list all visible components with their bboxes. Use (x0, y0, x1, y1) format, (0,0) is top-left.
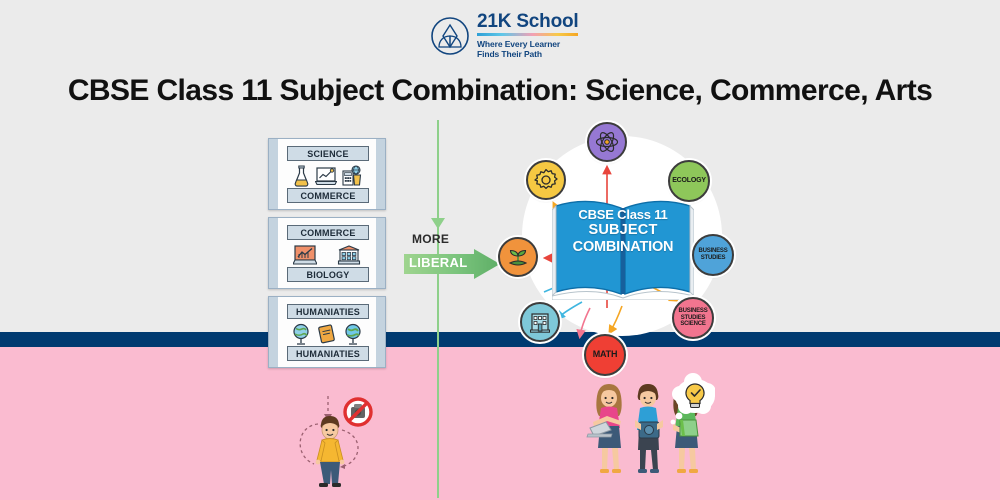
card-top-label: SCIENCE (287, 146, 369, 161)
brand-tagline-line1: Where Every Learner (477, 39, 578, 50)
page-title: CBSE Class 11 Subject Combination: Scien… (0, 74, 1000, 108)
node-business-studies-label: BUSINESS STUDIES (694, 248, 732, 261)
card-bottom-label: HUMANIATIES (287, 346, 369, 361)
calculator-globe-icon (342, 165, 362, 187)
node-ecology[interactable]: ECOLOGY (668, 160, 710, 202)
node-plant[interactable] (498, 237, 538, 277)
node-ecology-label: ECOLOGY (670, 177, 708, 185)
subject-card-stack: SCIENCE COMMERCE (268, 138, 386, 368)
atom-icon (595, 130, 619, 154)
card-top-label: HUMANIATIES (287, 304, 369, 319)
lotus-circle-icon (430, 16, 470, 56)
book-center-text: CBSE Class 11 SUBJECT COMBINATION (556, 207, 690, 256)
card-bottom-label: COMMERCE (287, 188, 369, 203)
boy-with-tablet-icon (635, 384, 663, 473)
node-atom[interactable] (587, 122, 627, 162)
subject-card[interactable]: HUMANIATIES HUMANIATIES (268, 296, 386, 368)
laptop-chart-icon (315, 166, 337, 186)
subject-card[interactable]: SCIENCE COMMERCE (268, 138, 386, 210)
book-icon (318, 324, 336, 344)
sprout-icon (506, 245, 530, 269)
globe-icon (291, 323, 311, 345)
globe-icon (343, 323, 363, 345)
more-label: MORE (412, 232, 474, 246)
book-line-3: COMBINATION (556, 239, 690, 256)
card-top-label: COMMERCE (287, 225, 369, 240)
brand-name: 21K School (477, 12, 578, 31)
node-math-label: MATH (591, 350, 620, 360)
card-bottom-label: BIOLOGY (287, 267, 369, 282)
brand-logo-text: 21K School Where Every Learner Finds The… (477, 12, 578, 60)
node-business-science[interactable]: BUSINESS STUDIES SCIENCE (672, 297, 714, 339)
node-business-science-label: BUSINESS STUDIES SCIENCE (674, 308, 712, 328)
node-gear[interactable] (526, 160, 566, 200)
book-line-2: SUBJECT (556, 222, 690, 239)
subject-card[interactable]: COMMERCE BIOLOGY (268, 217, 386, 289)
card-icon-row (283, 243, 371, 267)
card-icon-row (283, 322, 371, 346)
boy-with-prohibition-sign-icon (288, 390, 378, 492)
more-liberal-indicator: MORE LIBERAL (404, 232, 500, 280)
gear-icon (534, 168, 558, 192)
node-business-studies[interactable]: BUSINESS STUDIES (692, 234, 734, 276)
flask-icon (293, 165, 310, 187)
brand-logo[interactable]: 21K School Where Every Learner Finds The… (430, 10, 600, 62)
node-building[interactable] (520, 302, 560, 342)
book-line-1: CBSE Class 11 (556, 207, 690, 222)
bank-building-icon (337, 245, 361, 265)
chart-board-icon (293, 245, 317, 265)
students-group-icon (585, 370, 715, 495)
brand-rule (477, 33, 578, 36)
down-arrow-icon (430, 218, 446, 230)
liberal-axis-line (437, 120, 439, 498)
subject-combination-diagram: CBSE Class 11 SUBJECT COMBINATION ECOLOG… (490, 112, 750, 382)
girl-with-laptop-icon (587, 384, 622, 473)
school-building-icon (528, 310, 552, 334)
brand-tagline-line2: Finds Their Path (477, 49, 578, 60)
card-icon-row (283, 164, 371, 188)
liberal-label: LIBERAL (409, 255, 479, 270)
